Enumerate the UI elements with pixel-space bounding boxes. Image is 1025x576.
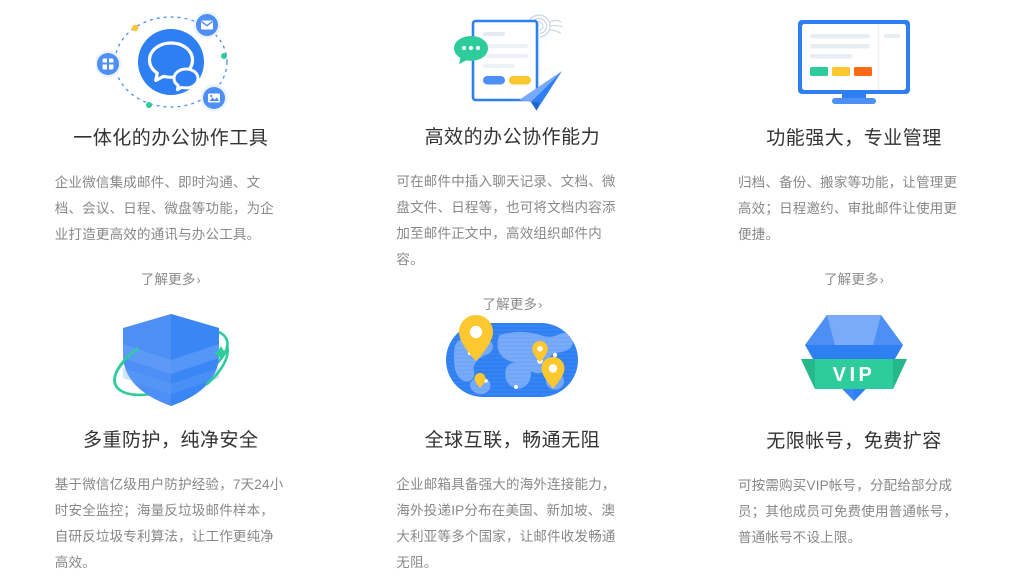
disk-satellite-icon bbox=[200, 84, 227, 111]
feature-title: 一体化的办公协作工具 bbox=[73, 129, 268, 148]
feature-title: 全球互联，畅通无阻 bbox=[425, 431, 601, 450]
learn-more-label: 了解更多 bbox=[141, 272, 196, 287]
chevron-right-icon: › bbox=[197, 273, 201, 287]
mail-satellite-icon bbox=[193, 11, 220, 38]
vip-diamond-icon: VIP bbox=[683, 296, 1025, 416]
document-satellite-icon bbox=[96, 50, 122, 77]
feature-card-multi-layer-security: 多重防护，纯净安全 基于微信亿级用户防护经验，7天24小时安全监控；海量反垃圾邮… bbox=[0, 288, 342, 576]
feature-description: 企业微信集成邮件、即时沟通、文档、会议、日程、微盘等功能，为企业打造更高效的通讯… bbox=[55, 170, 287, 248]
feature-description: 可按需购买VIP帐号，分配给部分成员；其他成员可免费使用普通帐号，普通帐号不设上… bbox=[738, 473, 970, 551]
feature-title: 多重防护，纯净安全 bbox=[83, 431, 259, 450]
learn-more-link[interactable]: 了解更多› bbox=[683, 268, 1025, 288]
feature-card-efficient-office-collaboration: 高效的办公协作能力 可在邮件中插入聊天记录、文档、微盘文件、日程等，也可将文档内… bbox=[342, 0, 684, 288]
learn-more-link[interactable]: 了解更多› bbox=[0, 268, 342, 288]
feature-card-unlimited-accounts: VIP 无限帐号，免费扩容 可按需购买VIP帐号，分配给部分成员；其他成员可免费… bbox=[683, 288, 1025, 576]
chevron-right-icon: › bbox=[880, 273, 884, 287]
vip-label: VIP bbox=[833, 364, 876, 386]
shield-orbit-icon bbox=[0, 296, 342, 415]
feature-grid: 一体化的办公协作工具 企业微信集成邮件、即时沟通、文档、会议、日程、微盘等功能，… bbox=[0, 0, 1025, 576]
world-map-pins-icon bbox=[342, 296, 684, 415]
feature-description: 可在邮件中插入聊天记录、文档、微盘文件、日程等，也可将文档内容添加至邮件正文中，… bbox=[396, 169, 628, 273]
learn-more-label: 了解更多 bbox=[824, 272, 879, 287]
feature-title: 功能强大，专业管理 bbox=[766, 129, 942, 148]
feature-description: 归档、备份、搬家等功能，让管理更高效；日程邀约、审批邮件让使用更便捷。 bbox=[738, 170, 970, 248]
feature-description: 基于微信亿级用户防护经验，7天24小时安全监控；海量反垃圾邮件样本，自研反垃圾专… bbox=[55, 472, 287, 576]
feature-title: 高效的办公协作能力 bbox=[425, 128, 601, 147]
feature-description: 企业邮箱具备强大的海外连接能力，海外投递IP分布在美国、新加坡、澳大利亚等多个国… bbox=[396, 472, 628, 576]
feature-title: 无限帐号，免费扩容 bbox=[766, 432, 942, 451]
feature-card-global-connectivity: 全球互联，畅通无阻 企业邮箱具备强大的海外连接能力，海外投递IP分布在美国、新加… bbox=[342, 288, 684, 576]
document-send-icon bbox=[342, 8, 684, 114]
feature-card-integrated-office-collaboration: 一体化的办公协作工具 企业微信集成邮件、即时沟通、文档、会议、日程、微盘等功能，… bbox=[0, 0, 342, 288]
chat-orbit-icon bbox=[0, 8, 342, 115]
feature-card-powerful-professional-management: 功能强大，专业管理 归档、备份、搬家等功能，让管理更高效；日程邀约、审批邮件让使… bbox=[683, 0, 1025, 288]
monitor-dashboard-icon bbox=[683, 8, 1025, 115]
